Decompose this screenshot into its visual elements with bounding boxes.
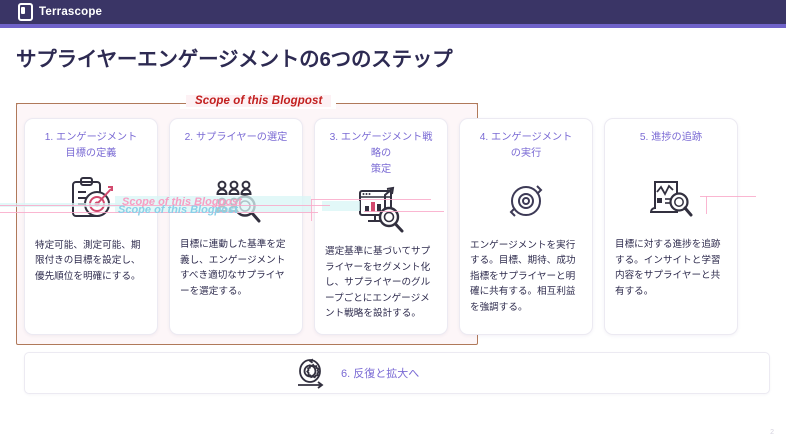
step-card-2-title-line1: 2. サプライヤーの選定 bbox=[185, 130, 288, 146]
brand-name: Terrascope bbox=[39, 6, 102, 18]
step-card-1-title-line2: 目標の定義 bbox=[45, 146, 138, 162]
page-number: 2 bbox=[770, 429, 774, 436]
header-accent-line bbox=[0, 24, 786, 28]
monitor-chart-magnifier-icon bbox=[354, 176, 408, 244]
step-card-6[interactable]: 6. 反復と拡大へ bbox=[24, 352, 770, 394]
report-magnifier-icon bbox=[645, 163, 697, 237]
step-card-1-body: 特定可能、測定可能、期限付きの目標を設定し、優先順位を明確にする。 bbox=[35, 238, 147, 285]
step-card-3-body: 選定基準に基づいてサプライヤーをセグメント化し、サプライヤーのグループごとにエン… bbox=[325, 244, 437, 322]
gear-cycle-icon bbox=[501, 164, 551, 238]
step-card-5-body: 目標に対する進捗を追跡する。インサイトと学習内容をサプライヤーと共有する。 bbox=[615, 237, 727, 299]
steps-card-row: 1. エンゲージメント 目標の定義 特定可能、測定可能、期限付きの目標を設定し、… bbox=[24, 118, 770, 335]
step-card-5-title-line1: 5. 進捗の追跡 bbox=[640, 130, 702, 146]
step-card-1-title: 1. エンゲージメント 目標の定義 bbox=[45, 130, 138, 162]
step-card-2-title: 2. サプライヤーの選定 bbox=[185, 130, 288, 161]
brand-logo[interactable]: Terrascope bbox=[18, 3, 102, 21]
step-card-5[interactable]: 5. 進捗の追跡 目標に対する進捗を追跡する。インサイトと学習内容をサプライヤー… bbox=[604, 118, 738, 335]
scope-frame-tick-left bbox=[16, 103, 186, 104]
step-card-4-title-line2: の実行 bbox=[480, 146, 573, 162]
step-card-2[interactable]: 2. サプライヤーの選定 目標に連動した基準を定義し、エンゲージメントすべき適切… bbox=[169, 118, 303, 335]
people-magnifier-icon bbox=[209, 163, 263, 237]
step-card-3-title: 3. エンゲージメント戦略の 策定 bbox=[325, 130, 437, 174]
clipboard-target-icon bbox=[64, 164, 118, 238]
gear-loop-icon bbox=[293, 356, 327, 390]
page-title: サプライヤーエンゲージメントの6つのステップ bbox=[16, 42, 452, 72]
step-card-4-title: 4. エンゲージメント の実行 bbox=[480, 130, 573, 162]
app-header-bar: Terrascope bbox=[0, 0, 786, 24]
scope-frame-tick-right bbox=[341, 103, 478, 104]
step-card-2-body: 目標に連動した基準を定義し、エンゲージメントすべき適切なサプライヤーを選定する。 bbox=[180, 237, 292, 299]
step-card-4-body: エンゲージメントを実行する。目標、期待、成功指標をサプライヤーと明確に共有する。… bbox=[470, 238, 582, 316]
step-card-1[interactable]: 1. エンゲージメント 目標の定義 特定可能、測定可能、期限付きの目標を設定し、… bbox=[24, 118, 158, 335]
step-card-6-label: 6. 反復と拡大へ bbox=[341, 365, 419, 381]
step-card-3-title-line1: 3. エンゲージメント戦略の bbox=[325, 130, 437, 162]
step-card-5-title: 5. 進捗の追跡 bbox=[640, 130, 702, 161]
step-card-4[interactable]: 4. エンゲージメント の実行 エンゲージメントを実行する。目標、期待、成功指標… bbox=[459, 118, 593, 335]
step-card-3[interactable]: 3. エンゲージメント戦略の 策定 選定基準に基づいてサプライヤーをセグメント化… bbox=[314, 118, 448, 335]
step-card-1-title-line1: 1. エンゲージメント bbox=[45, 130, 138, 146]
scope-label: Scope of this Blogpost bbox=[186, 95, 331, 107]
terrascope-logo-mark-icon bbox=[18, 3, 33, 21]
step-card-4-title-line1: 4. エンゲージメント bbox=[480, 130, 573, 146]
